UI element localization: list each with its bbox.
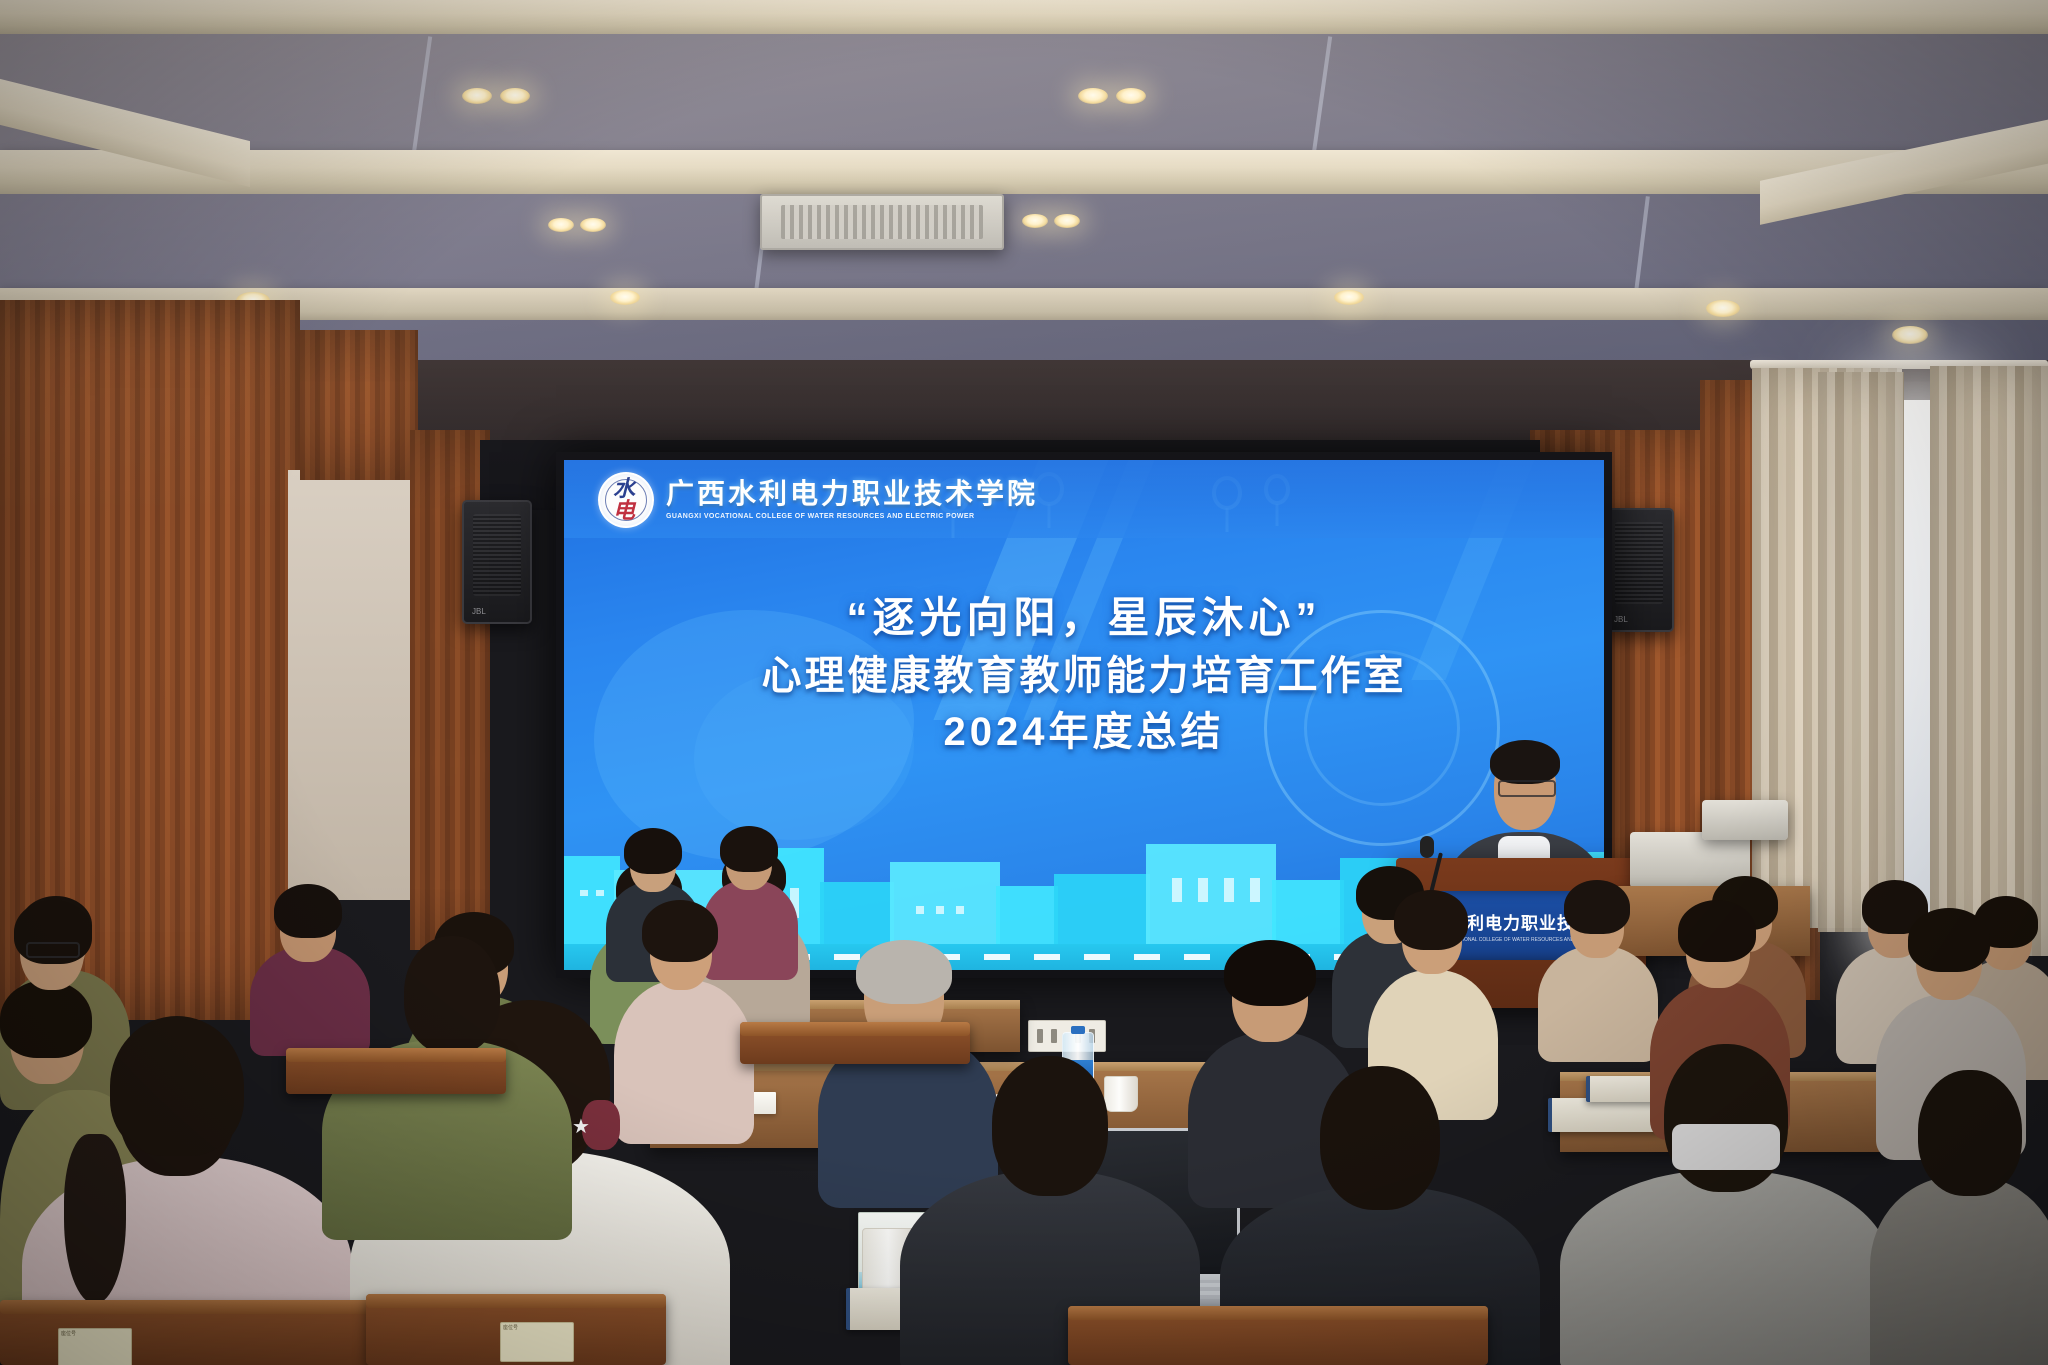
hair-star-clip-icon: ★ bbox=[572, 1116, 594, 1138]
downlight-6 bbox=[580, 218, 606, 232]
socket-hole bbox=[1037, 1029, 1043, 1043]
title-line-2: 心理健康教育教师能力培育工作室 bbox=[564, 648, 1604, 705]
ac-cassette-unit bbox=[760, 194, 1004, 250]
attendee-jacket bbox=[1870, 1176, 2048, 1365]
bench-row-mid-left bbox=[286, 1048, 506, 1094]
pa-speaker-right: JBL bbox=[1604, 508, 1674, 632]
downlight-1 bbox=[462, 88, 492, 104]
attendee-front-far-right bbox=[1870, 1066, 2048, 1365]
bench-rail bbox=[286, 1048, 506, 1062]
downlight-7 bbox=[1022, 214, 1048, 228]
downlight-13 bbox=[1892, 326, 1928, 344]
wall-left-plaster bbox=[288, 470, 416, 900]
seat-tag-2: 座位号 bbox=[500, 1322, 574, 1362]
attendee-head bbox=[1918, 1070, 2022, 1196]
downlight-12 bbox=[1706, 300, 1740, 317]
building-window bbox=[956, 906, 964, 914]
pa-speaker-left: JBL bbox=[462, 500, 532, 624]
ceiling-panel-2 bbox=[0, 194, 2048, 294]
bench-rail bbox=[1068, 1306, 1488, 1320]
attendee-hair bbox=[720, 826, 778, 872]
seal-monogram: 水电 bbox=[613, 478, 639, 522]
building-window bbox=[1198, 878, 1208, 902]
attendee-hair bbox=[642, 900, 718, 962]
screen-institution-logo: 水电 广西水利电力职业技术学院 GUANGXI VOCATIONAL COLLE… bbox=[598, 472, 1038, 528]
bench-row-foreground-right bbox=[1068, 1306, 1488, 1365]
av-equipment-box bbox=[1702, 800, 1788, 840]
attendee-jacket bbox=[1560, 1170, 1890, 1365]
building-window bbox=[1250, 878, 1260, 902]
attendee-head bbox=[992, 1056, 1108, 1196]
downlight-3 bbox=[1078, 88, 1108, 104]
seat-tag-1: 座位号 bbox=[58, 1328, 132, 1365]
wall-left-wood-2 bbox=[300, 330, 418, 480]
building bbox=[890, 862, 1000, 944]
downlight-11 bbox=[1334, 290, 1364, 305]
attendee-back-7 bbox=[1538, 880, 1658, 1050]
socket-hole bbox=[1051, 1029, 1057, 1043]
building-window bbox=[1172, 878, 1182, 902]
building bbox=[820, 882, 894, 944]
downlight-10 bbox=[610, 290, 640, 305]
attendee-head bbox=[404, 936, 500, 1054]
title-line-1: “逐光向阳，星辰沐心” bbox=[564, 588, 1604, 648]
downlight-2 bbox=[500, 88, 530, 104]
attendee-hair bbox=[1564, 880, 1630, 934]
institution-name-cn: 广西水利电力职业技术学院 bbox=[666, 480, 1038, 508]
building bbox=[996, 886, 1058, 944]
curtain-right-panel bbox=[1930, 366, 2048, 956]
attendee-hair bbox=[1394, 890, 1468, 950]
attendee-glasses-left bbox=[0, 900, 120, 1090]
pa-speaker-right-label: JBL bbox=[1614, 615, 1628, 624]
bench-row-mid-left-2 bbox=[740, 1022, 970, 1064]
ceiling-beam-3 bbox=[0, 288, 2048, 322]
attendee-front-gray-jacket bbox=[1560, 1040, 1890, 1365]
building-window bbox=[936, 906, 944, 914]
attendee-hair bbox=[1678, 900, 1756, 962]
ac-grill bbox=[781, 205, 983, 238]
attendee-hair bbox=[1224, 940, 1316, 1006]
ceiling-panel-1 bbox=[0, 34, 2048, 156]
attendee-glasses-icon bbox=[26, 942, 80, 958]
attendee-hair bbox=[1908, 908, 1990, 972]
institution-text-block: 广西水利电力职业技术学院 GUANGXI VOCATIONAL COLLEGE … bbox=[666, 480, 1038, 520]
presenter-glasses bbox=[1498, 780, 1556, 797]
institution-name-en: GUANGXI VOCATIONAL COLLEGE OF WATER RESO… bbox=[666, 513, 1038, 520]
attendee-hair bbox=[624, 828, 682, 874]
bench-rail bbox=[740, 1022, 970, 1036]
bench-rail bbox=[366, 1294, 666, 1308]
road-dash bbox=[1084, 954, 1110, 960]
podium-microphone-head bbox=[1420, 836, 1434, 858]
downlight-5 bbox=[548, 218, 574, 232]
presenter-hair bbox=[1490, 740, 1560, 784]
bench-rail bbox=[0, 1300, 420, 1314]
school-seal-icon: 水电 bbox=[598, 472, 654, 528]
curtain-far-right bbox=[1818, 372, 1904, 932]
conference-hall-photo: JBL JBL bbox=[0, 0, 2048, 1365]
downlight-4 bbox=[1116, 88, 1146, 104]
presentation-title-block: “逐光向阳，星辰沐心” 心理健康教育教师能力培育工作室 2024年度总结 bbox=[564, 588, 1604, 761]
pa-speaker-left-label: JBL bbox=[472, 607, 486, 616]
attendee-head bbox=[1320, 1066, 1440, 1210]
building bbox=[1054, 874, 1150, 944]
attendee-hair bbox=[110, 1016, 244, 1156]
road-dash bbox=[1034, 954, 1060, 960]
building-window bbox=[580, 890, 588, 896]
road-dash bbox=[1134, 954, 1160, 960]
face-mask-icon bbox=[1672, 1124, 1780, 1170]
downlight-8 bbox=[1054, 214, 1080, 228]
ceiling-beam-top bbox=[0, 0, 2048, 34]
building-window bbox=[1224, 878, 1234, 902]
attendee-hair bbox=[856, 940, 952, 1004]
ceiling-beam-2 bbox=[0, 150, 2048, 194]
attendee-ponytail bbox=[64, 1134, 126, 1304]
bottle-cap bbox=[1071, 1026, 1085, 1034]
building-window bbox=[916, 906, 924, 914]
